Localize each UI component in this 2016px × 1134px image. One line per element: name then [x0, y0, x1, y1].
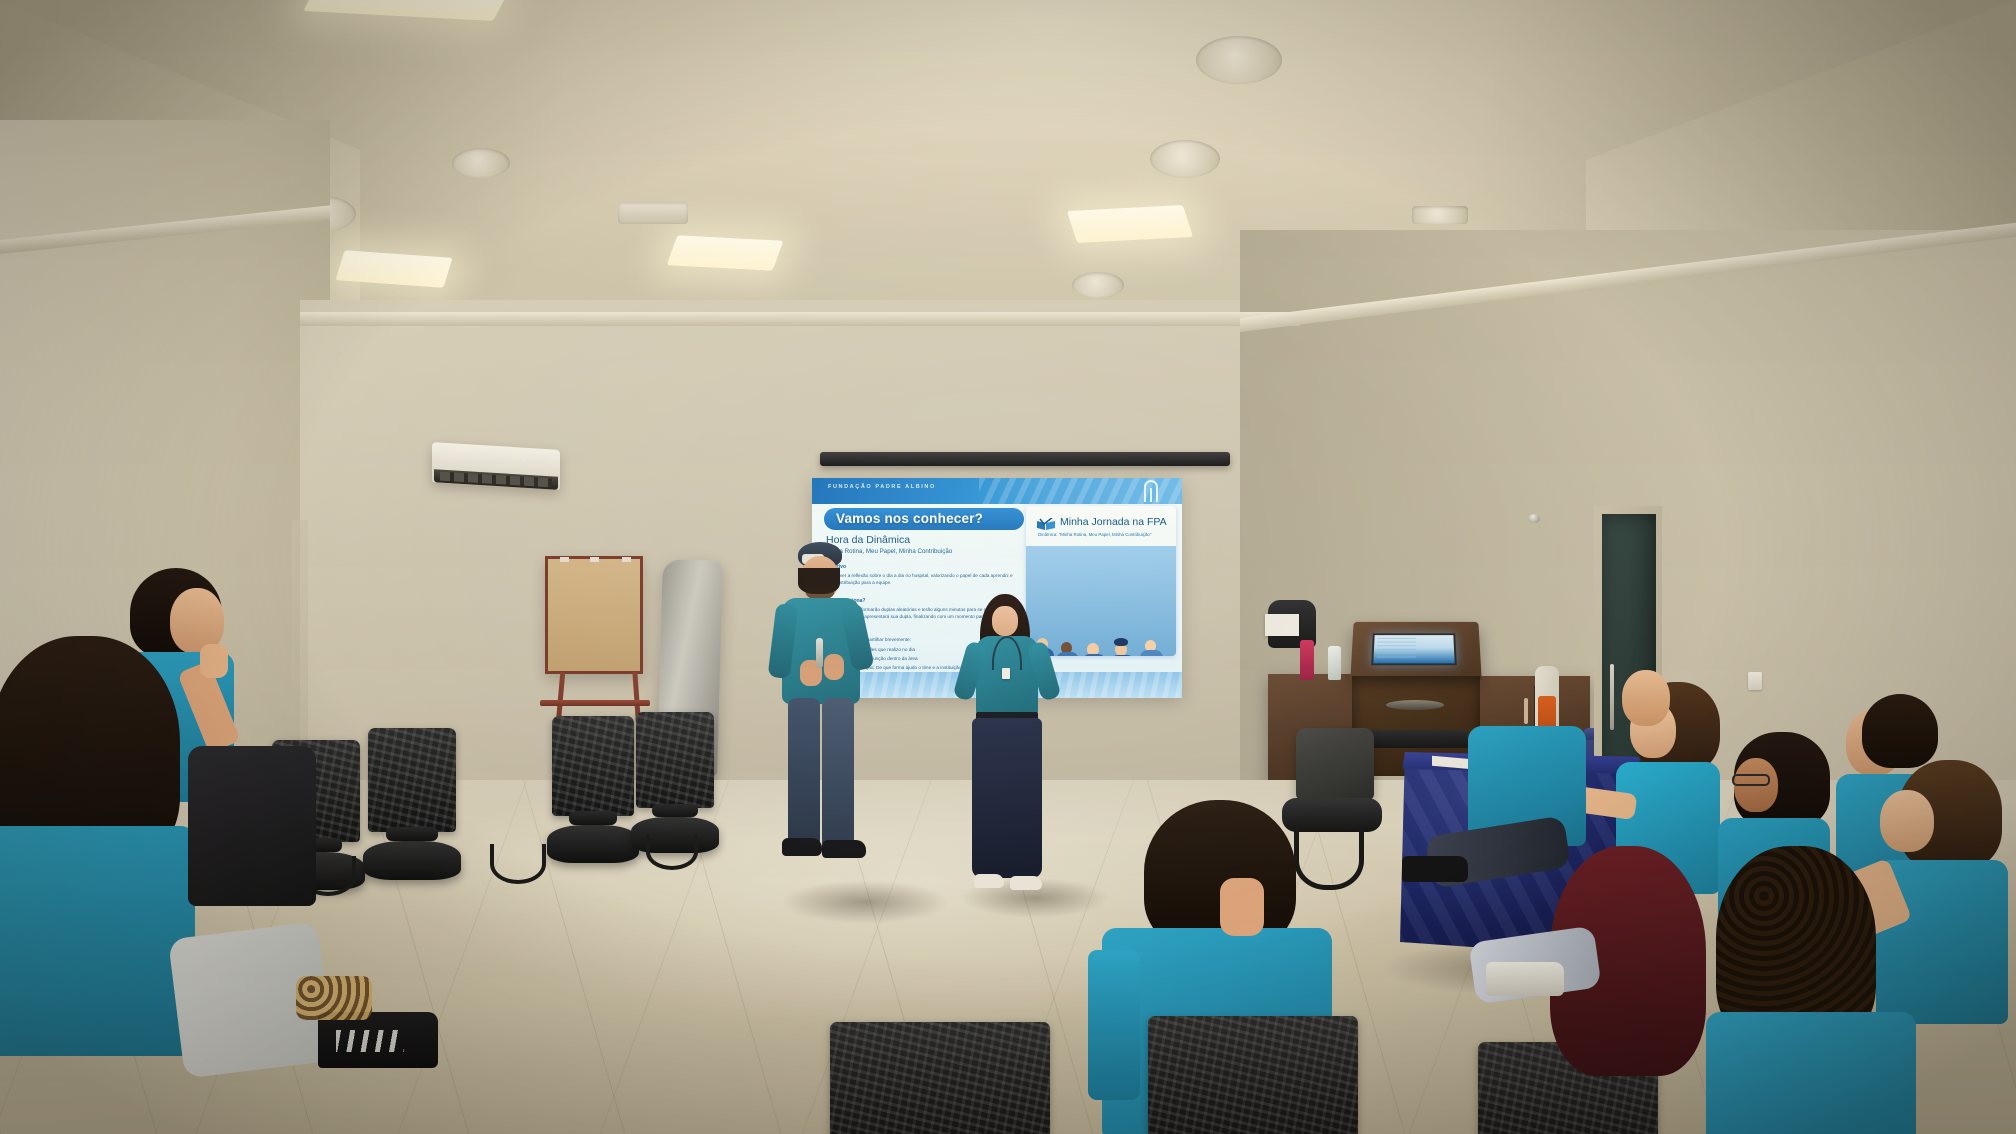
photo-person [1110, 639, 1127, 656]
flipchart-clip [560, 557, 569, 562]
recessed-downlight [1150, 140, 1220, 178]
audience-shoe-white [1486, 962, 1564, 996]
audience-member [1706, 846, 1936, 1134]
presenter-female-pants [972, 718, 1042, 878]
ceiling-panel-light [1067, 205, 1193, 243]
photo-person [1082, 643, 1099, 656]
photo-person-body [1082, 654, 1106, 656]
foreground-chair[interactable] [830, 1022, 1050, 1134]
presenter-female-shoe [974, 874, 1004, 888]
audience-hand [1220, 878, 1264, 936]
ceiling-panel-light [667, 235, 784, 271]
flipchart-clip [622, 557, 631, 562]
chair-arm [569, 811, 617, 825]
chair-back [636, 712, 714, 808]
presenter-female [952, 598, 1062, 900]
slide-card-title: Minha Jornada na FPA [1060, 516, 1167, 528]
eyeglasses-icon [1732, 774, 1770, 786]
chair-base-leg [490, 844, 546, 884]
chair-seat [363, 841, 462, 880]
crown-molding [300, 312, 1300, 326]
cabinet-handle [1524, 698, 1528, 724]
audience-arm [1088, 950, 1140, 1100]
audience-member [0, 636, 210, 1134]
presenter-male-leg [822, 698, 854, 848]
photo-person-cap-icon [1114, 638, 1128, 646]
chair-back [1148, 1016, 1358, 1134]
presenter-male-shoe [822, 840, 866, 858]
presenter-male-shoe [782, 838, 822, 856]
chair-seat [547, 825, 639, 862]
book-check-logo-icon [1036, 518, 1056, 531]
photo-person-body [1110, 655, 1135, 656]
recessed-downlight [452, 148, 510, 178]
pink-bottle [1300, 640, 1314, 680]
av-disc [1386, 700, 1444, 710]
audience-member [188, 698, 328, 918]
flipchart-clip [590, 557, 599, 562]
chair-back [552, 716, 634, 816]
recessed-downlight [618, 202, 688, 224]
office-task-chair-back[interactable] [1296, 728, 1374, 800]
presenter-male [770, 542, 890, 900]
slide-title: Vamos nos conhecer? [836, 511, 983, 526]
chair-back [368, 728, 456, 832]
ac-led-icon [523, 458, 526, 461]
air-conditioner [432, 442, 560, 490]
projection-screen-roller [820, 452, 1230, 466]
slide-header-band [812, 478, 1182, 504]
audience-member [1592, 670, 1712, 850]
presenter-female-shoe [1010, 876, 1042, 890]
slide-card-subtitle: Dinâmica: "Minha Rotina, Meu Papel, Minh… [1038, 532, 1151, 537]
water-bottle [1328, 646, 1341, 680]
gang-chair[interactable] [552, 716, 634, 872]
slide-organization-header: FUNDAÇÃO PADRE ALBINO [828, 484, 936, 490]
recessed-downlight [1412, 206, 1468, 224]
audience-member [1468, 726, 1608, 946]
audience-shirt [1706, 1012, 1916, 1134]
av-receiver [1364, 730, 1468, 748]
audience-head [1622, 670, 1670, 726]
audience-shirt [188, 746, 316, 906]
flipchart-board [545, 556, 643, 674]
recessed-downlight [1072, 272, 1124, 298]
presenter-female-face [992, 606, 1018, 636]
presentation-room-photo: FUNDAÇÃO PADRE ALBINO Vamos nos conhecer… [0, 0, 2016, 1134]
paper-sign [1265, 614, 1299, 636]
recessed-downlight [1196, 36, 1282, 84]
audience-shirt [0, 826, 195, 1056]
photo-person-body [1140, 650, 1163, 656]
chair-base-leg [646, 834, 698, 870]
lectern-monitor [1371, 633, 1457, 665]
chair-back [830, 1022, 1050, 1134]
flipchart-tray [540, 700, 650, 706]
institution-logo-icon [1144, 480, 1158, 502]
photo-person [1140, 640, 1156, 652]
presenter-male-hand [824, 654, 844, 680]
security-camera-icon [1528, 514, 1540, 523]
wall-outlet [1748, 672, 1762, 690]
presenter-male-leg [788, 698, 820, 846]
chair-arm [652, 804, 697, 818]
chair-arm [386, 827, 437, 842]
shoe-stripes [336, 1030, 404, 1052]
foreground-chair[interactable] [1148, 1016, 1358, 1134]
id-badge [1002, 668, 1010, 679]
audience-shoe [1402, 856, 1468, 882]
audience-head [1880, 790, 1934, 852]
gang-chair[interactable] [368, 728, 456, 890]
animal-print-bag [296, 976, 372, 1020]
microphone [816, 638, 823, 668]
audience-hair [1862, 694, 1938, 768]
